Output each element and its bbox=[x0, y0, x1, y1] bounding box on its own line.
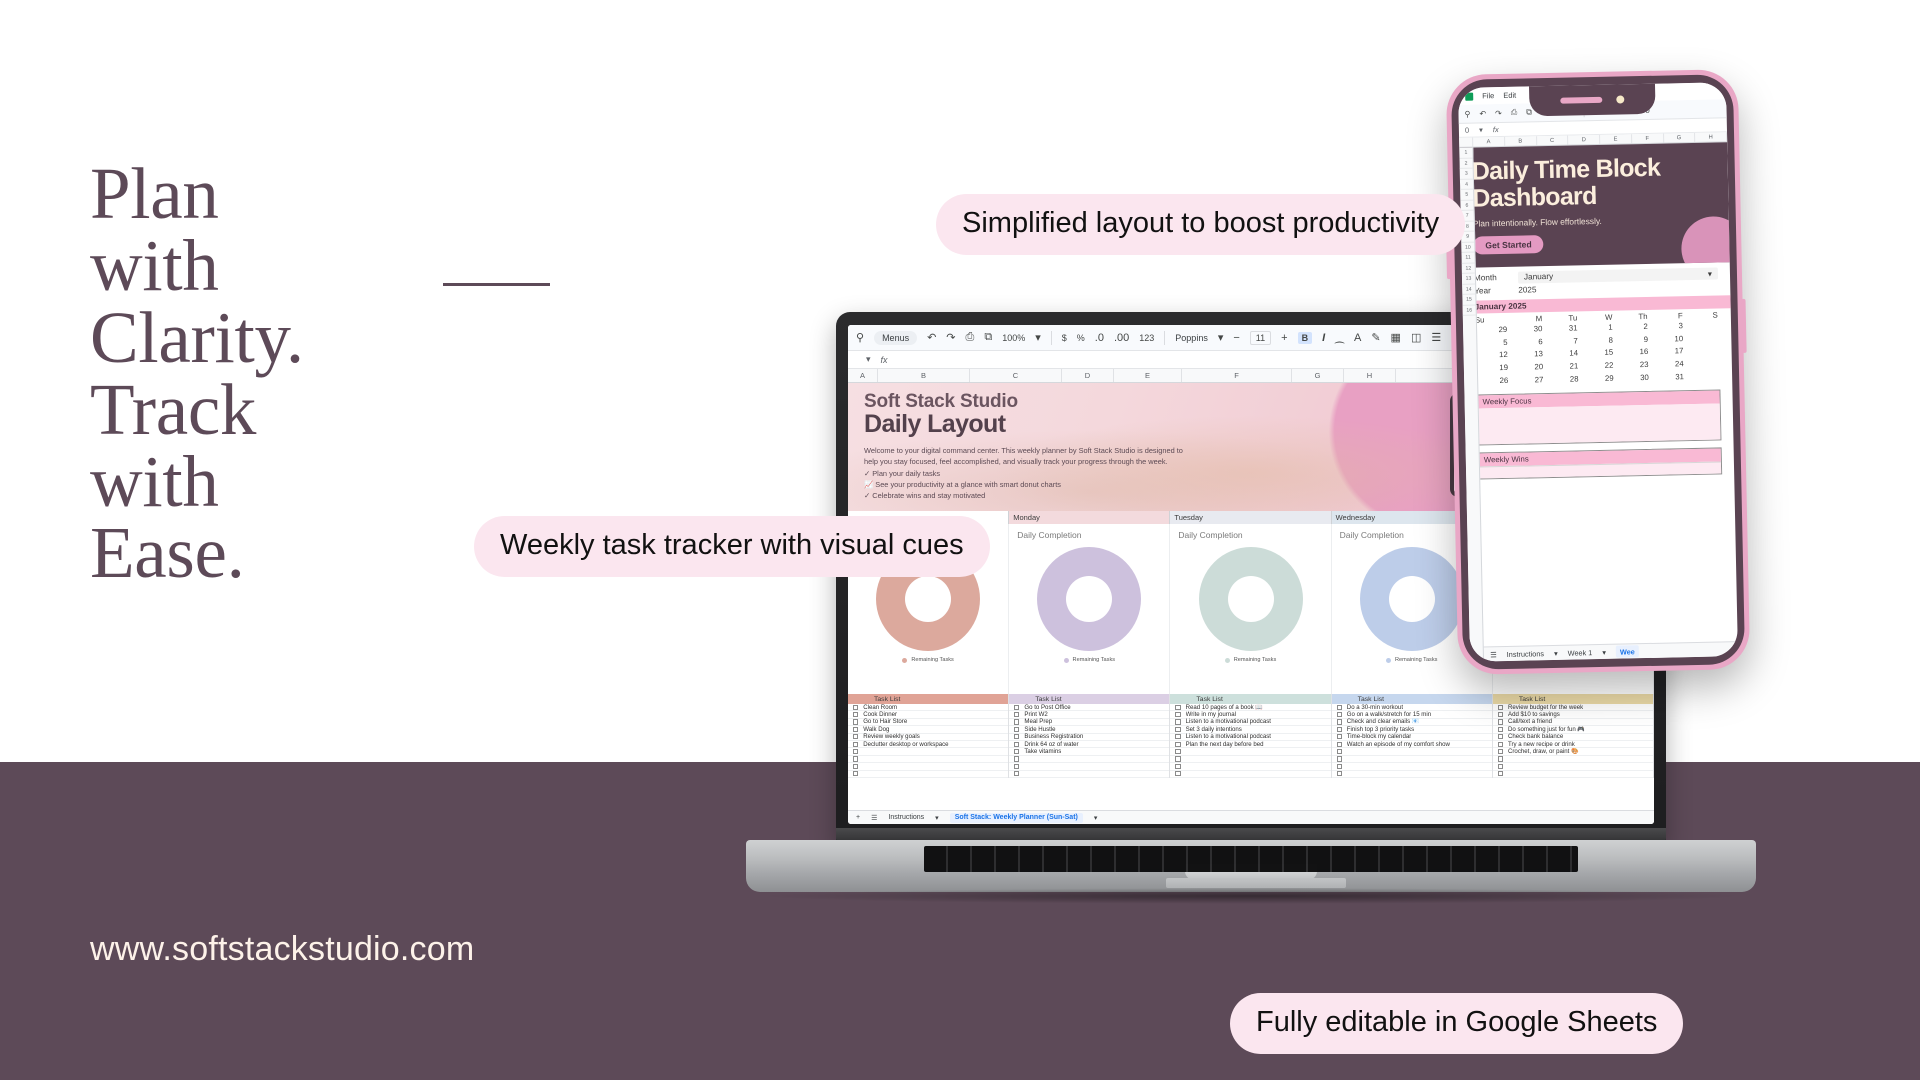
calendar-day-17[interactable]: 17 bbox=[1651, 345, 1686, 358]
task-column-2: Task ListGo to Post OfficePrint W2Meal P… bbox=[1009, 694, 1170, 778]
calendar-day-5[interactable]: 5 bbox=[1475, 336, 1510, 349]
task-checkbox[interactable] bbox=[1175, 756, 1180, 761]
task-row[interactable] bbox=[848, 748, 1008, 755]
task-list-header: Task List bbox=[1493, 694, 1653, 704]
phone-hero-section: Daily Time Block Dashboard Plan intentio… bbox=[1459, 142, 1729, 268]
day-header-monday: Monday bbox=[1009, 511, 1170, 524]
task-checkbox[interactable] bbox=[1498, 734, 1503, 739]
task-label: Go on a walk/stretch for 15 min bbox=[1347, 711, 1431, 718]
phone-hero-subtitle: Plan intentionally. Flow effortlessly. bbox=[1473, 213, 1717, 228]
chevron-down-icon-namebox[interactable]: ▾ bbox=[866, 354, 871, 365]
task-label: Listen to a motivational podcast bbox=[1186, 733, 1271, 740]
phone-corner-cell bbox=[1459, 138, 1473, 147]
chart-title: Daily Completion bbox=[1170, 530, 1330, 540]
task-checkbox[interactable] bbox=[1014, 749, 1019, 754]
chevron-down-icon-phone-namebox[interactable]: ▾ bbox=[1479, 125, 1483, 134]
legend-swatch-icon bbox=[902, 658, 907, 663]
legend-label: Remaining Tasks bbox=[1073, 657, 1116, 663]
task-checkbox[interactable] bbox=[1498, 749, 1503, 754]
chevron-down-icon-ptab1[interactable]: ▾ bbox=[1554, 648, 1558, 657]
calendar-day-10[interactable]: 10 bbox=[1651, 333, 1686, 346]
task-checkbox[interactable] bbox=[1175, 734, 1180, 739]
italic-button[interactable]: I bbox=[1322, 332, 1325, 344]
task-checkbox[interactable] bbox=[853, 742, 858, 747]
task-label: Go to Post Office bbox=[1024, 704, 1070, 711]
headline-line-1: Plan bbox=[90, 158, 510, 230]
paint-format-icon-phone[interactable]: ⧉ bbox=[1526, 107, 1532, 117]
task-checkbox[interactable] bbox=[1498, 727, 1503, 732]
website-url[interactable]: www.softstackstudio.com bbox=[90, 930, 474, 969]
task-checkbox[interactable] bbox=[1498, 705, 1503, 710]
task-label: Do something just for fun 🎮 bbox=[1508, 726, 1585, 733]
task-row[interactable] bbox=[1009, 756, 1169, 763]
fx-icon: fx bbox=[881, 355, 888, 365]
task-checkbox[interactable] bbox=[1175, 749, 1180, 754]
task-label: Call/text a friend bbox=[1508, 718, 1552, 725]
chart-legend: Remaining Tasks bbox=[1009, 657, 1169, 663]
column-header-D[interactable]: D bbox=[1062, 369, 1114, 382]
chevron-down-icon-tab1[interactable]: ▾ bbox=[935, 814, 939, 822]
banner-title: Daily Layout bbox=[864, 410, 1334, 439]
column-header-F[interactable]: F bbox=[1182, 369, 1292, 382]
calendar-day-empty bbox=[1686, 332, 1721, 345]
calendar-day-3[interactable]: 3 bbox=[1651, 320, 1686, 333]
month-value: January bbox=[1524, 271, 1553, 282]
phone-month-form: Month January ▾ Year 2025 bbox=[1462, 262, 1731, 298]
task-list-header: Task List bbox=[1332, 694, 1492, 704]
calendar-day-1[interactable]: 1 bbox=[1580, 322, 1615, 335]
column-header-E[interactable]: E bbox=[1114, 369, 1182, 382]
task-label: Take vitamins bbox=[1024, 748, 1061, 755]
fx-icon-phone: fx bbox=[1493, 125, 1499, 134]
column-header-C[interactable]: C bbox=[970, 369, 1062, 382]
calendar-day-27[interactable]: 27 bbox=[1511, 374, 1546, 387]
calendar-day-29[interactable]: 29 bbox=[1475, 324, 1510, 337]
calendar-day-30[interactable]: 30 bbox=[1510, 323, 1545, 336]
task-row[interactable] bbox=[1332, 763, 1492, 770]
all-sheets-icon[interactable]: ☰ bbox=[871, 814, 877, 822]
calendar-day-31[interactable]: 31 bbox=[1545, 322, 1580, 335]
column-header-G[interactable]: G bbox=[1292, 369, 1344, 382]
task-checkbox[interactable] bbox=[1175, 705, 1180, 710]
task-row[interactable] bbox=[1170, 771, 1330, 778]
task-label: Walk Dog bbox=[863, 726, 889, 733]
headline-line-5: with bbox=[90, 446, 510, 518]
task-label: Plan the next day before bed bbox=[1186, 741, 1264, 748]
task-list-header: Task List bbox=[848, 694, 1008, 704]
callout-google-sheets: Fully editable in Google Sheets bbox=[1230, 993, 1683, 1054]
calendar-weeks: 2930311235678910121314151617192021222324… bbox=[1475, 319, 1722, 387]
task-label: Set 3 daily intentions bbox=[1186, 726, 1242, 733]
phone-row-header-5[interactable]: 5 bbox=[1460, 190, 1473, 201]
task-checkbox[interactable] bbox=[853, 771, 858, 776]
task-label: Finish top 3 priority tasks bbox=[1347, 726, 1414, 733]
zoom-level[interactable]: 100% bbox=[1002, 333, 1025, 343]
camera-icon bbox=[1616, 95, 1624, 103]
task-checkbox[interactable] bbox=[1337, 742, 1342, 747]
year-label: Year bbox=[1474, 286, 1518, 296]
task-row[interactable] bbox=[1009, 763, 1169, 770]
task-checkbox[interactable] bbox=[1498, 771, 1503, 776]
calendar-day-9[interactable]: 9 bbox=[1616, 334, 1651, 347]
calendar-day-26[interactable]: 26 bbox=[1476, 374, 1511, 387]
sheet-tab-instructions[interactable]: Instructions bbox=[888, 814, 924, 821]
task-label: Write in my journal bbox=[1186, 711, 1236, 718]
task-row[interactable] bbox=[1170, 763, 1330, 770]
task-list-header: Task List bbox=[1170, 694, 1330, 704]
task-label: Business Registration bbox=[1024, 733, 1083, 740]
task-checkbox[interactable] bbox=[1014, 712, 1019, 717]
callout-weekly-tracker: Weekly task tracker with visual cues bbox=[474, 516, 990, 577]
horizontal-align-icon[interactable]: ☰ bbox=[1431, 331, 1441, 344]
get-started-button[interactable]: Get Started bbox=[1473, 235, 1544, 254]
task-label: Crochet, draw, or paint 🎨 bbox=[1508, 748, 1579, 755]
calendar-day-15[interactable]: 15 bbox=[1581, 347, 1616, 360]
task-row[interactable]: Declutter desktop or workspace bbox=[848, 741, 1008, 748]
task-checkbox[interactable] bbox=[1014, 705, 1019, 710]
banner-bullet-2: 📈 See your productivity at a glance with… bbox=[864, 480, 1334, 489]
task-checkbox[interactable] bbox=[1175, 719, 1180, 724]
task-checkbox[interactable] bbox=[1337, 712, 1342, 717]
legend-swatch-icon bbox=[1225, 658, 1230, 663]
task-checkbox[interactable] bbox=[1337, 771, 1342, 776]
sheet-tab-bar[interactable]: + ☰ Instructions ▾ Soft Stack: Weekly Pl… bbox=[848, 810, 1654, 824]
phone-notch bbox=[1529, 84, 1656, 117]
headline-line-3: Clarity. bbox=[90, 302, 510, 374]
task-column-1: Task ListClean RoomCook DinnerGo to Hair… bbox=[848, 694, 1009, 778]
font-family-select[interactable]: Poppins bbox=[1175, 333, 1208, 343]
number-format-button[interactable]: 123 bbox=[1139, 333, 1154, 343]
print-icon[interactable]: ⎙ bbox=[966, 331, 975, 344]
redo-icon[interactable]: ↷ bbox=[946, 331, 955, 344]
task-checkbox[interactable] bbox=[853, 719, 858, 724]
phone-row-header-14[interactable]: 14 bbox=[1462, 284, 1475, 295]
phone-tab-week1[interactable]: Week 1 bbox=[1568, 648, 1593, 658]
task-checkbox[interactable] bbox=[1014, 764, 1019, 769]
menus-button[interactable]: Menus bbox=[874, 331, 917, 345]
task-row[interactable]: Plan the next day before bed bbox=[1170, 741, 1330, 748]
task-checkbox[interactable] bbox=[1175, 764, 1180, 769]
chart-cell-monday: Daily CompletionRemaining Tasks bbox=[1009, 524, 1170, 694]
task-row[interactable] bbox=[848, 763, 1008, 770]
phone-column-header-B[interactable]: B bbox=[1505, 136, 1537, 146]
task-label: Watch an episode of my comfort show bbox=[1347, 741, 1450, 748]
decrease-font-size-icon[interactable]: − bbox=[1233, 332, 1239, 344]
chevron-down-icon[interactable]: ▾ bbox=[1035, 331, 1041, 344]
calendar-day-14[interactable]: 14 bbox=[1546, 348, 1581, 361]
calendar-day-12[interactable]: 12 bbox=[1476, 349, 1511, 362]
text-color-icon[interactable]: A bbox=[1354, 332, 1361, 344]
task-row[interactable] bbox=[1332, 756, 1492, 763]
legend-label: Remaining Tasks bbox=[1395, 657, 1438, 663]
task-checkbox[interactable] bbox=[853, 727, 858, 732]
all-sheets-icon-phone[interactable]: ☰ bbox=[1490, 650, 1497, 659]
calendar-day-empty bbox=[1687, 370, 1722, 383]
page-title: Plan with Clarity. Track with Ease. bbox=[90, 158, 510, 589]
chevron-down-icon-ptab2[interactable]: ▾ bbox=[1602, 647, 1606, 656]
phone-column-header-D[interactable]: D bbox=[1568, 135, 1600, 145]
phone-hero-title: Daily Time Block Dashboard bbox=[1472, 153, 1717, 211]
legend-label: Remaining Tasks bbox=[911, 657, 954, 663]
column-header-B[interactable]: B bbox=[878, 369, 970, 382]
task-row[interactable] bbox=[848, 771, 1008, 778]
chart-legend: Remaining Tasks bbox=[848, 657, 1008, 663]
strikethrough-icon[interactable]: ⁔ bbox=[1335, 331, 1344, 344]
headline-line-6: Ease. bbox=[90, 517, 510, 589]
menu-file[interactable]: File bbox=[1482, 91, 1494, 100]
phone-column-header-F[interactable]: F bbox=[1632, 134, 1664, 144]
add-sheet-icon[interactable]: + bbox=[856, 814, 860, 821]
task-checkbox[interactable] bbox=[1014, 771, 1019, 776]
calendar-day-30[interactable]: 30 bbox=[1617, 371, 1652, 384]
task-checkbox[interactable] bbox=[1498, 719, 1503, 724]
task-label: Check bank balance bbox=[1508, 733, 1563, 740]
month-label: Month bbox=[1474, 273, 1518, 283]
headline-line-4: Track bbox=[90, 374, 510, 446]
task-row[interactable]: Crochet, draw, or paint 🎨 bbox=[1493, 748, 1653, 755]
task-checkbox[interactable] bbox=[1337, 764, 1342, 769]
calendar-day-24[interactable]: 24 bbox=[1651, 358, 1686, 371]
percent-icon[interactable]: % bbox=[1077, 333, 1085, 343]
legend-swatch-icon bbox=[1386, 658, 1391, 663]
task-checkbox[interactable] bbox=[1175, 712, 1180, 717]
headline-line-2: with bbox=[90, 230, 510, 302]
chart-cell-tuesday: Daily CompletionRemaining Tasks bbox=[1170, 524, 1331, 694]
task-checkbox[interactable] bbox=[1014, 734, 1019, 739]
phone-row-header-3[interactable]: 3 bbox=[1460, 169, 1473, 180]
task-label: Go to Hair Store bbox=[863, 718, 907, 725]
phone-tab-week2[interactable]: Wee bbox=[1616, 645, 1639, 657]
task-row[interactable]: Take vitamins bbox=[1009, 748, 1169, 755]
poster-canvas: Plan with Clarity. Track with Ease. www.… bbox=[0, 0, 1920, 1080]
calendar-day-6[interactable]: 6 bbox=[1510, 336, 1545, 349]
calendar-day-16[interactable]: 16 bbox=[1616, 346, 1651, 359]
task-column-3: Task ListRead 10 pages of a book 📖Write … bbox=[1170, 694, 1331, 778]
calendar-day-23[interactable]: 23 bbox=[1616, 359, 1651, 372]
laptop-trackpad bbox=[1166, 878, 1346, 888]
increase-decimal-icon[interactable]: .00 bbox=[1114, 332, 1129, 344]
chart-legend: Remaining Tasks bbox=[1170, 657, 1330, 663]
headline-divider bbox=[443, 283, 550, 286]
task-list-header: Task List bbox=[1009, 694, 1169, 704]
borders-icon[interactable]: ▦ bbox=[1391, 331, 1401, 344]
task-checkbox[interactable] bbox=[1337, 727, 1342, 732]
task-label: Listen to a motivational podcast bbox=[1186, 718, 1271, 725]
calendar-day-8[interactable]: 8 bbox=[1581, 334, 1616, 347]
phone-column-header-A[interactable]: A bbox=[1473, 137, 1505, 147]
phone-row-header-12[interactable]: 12 bbox=[1462, 263, 1475, 274]
task-column-4: Task ListDo a 30-min workoutGo on a walk… bbox=[1332, 694, 1493, 778]
bold-button[interactable]: B bbox=[1298, 332, 1313, 344]
calendar-day-2[interactable]: 2 bbox=[1616, 321, 1651, 334]
paint-format-icon[interactable]: ⧉ bbox=[984, 331, 992, 344]
phone-screen: File Edit View Insert Format Data Tools … bbox=[1458, 82, 1738, 661]
merge-cells-icon[interactable]: ◫ bbox=[1411, 331, 1421, 344]
calendar-day-empty bbox=[1686, 319, 1721, 332]
phone-row-header-15[interactable]: 15 bbox=[1462, 295, 1475, 306]
phone-row-header-10[interactable]: 10 bbox=[1461, 242, 1474, 253]
calendar-day-22[interactable]: 22 bbox=[1581, 359, 1616, 372]
phone-row-header-11[interactable]: 11 bbox=[1461, 253, 1474, 264]
task-label: Clean Room bbox=[863, 704, 897, 711]
task-label: Read 10 pages of a book 📖 bbox=[1186, 704, 1263, 711]
phone-column-header-H[interactable]: H bbox=[1695, 132, 1727, 142]
task-label: Drink 64 oz of water bbox=[1024, 741, 1078, 748]
chevron-down-icon-tab2[interactable]: ▾ bbox=[1094, 814, 1098, 822]
undo-icon-phone[interactable]: ↶ bbox=[1479, 109, 1486, 118]
task-checkbox[interactable] bbox=[853, 705, 858, 710]
task-row[interactable] bbox=[1170, 756, 1330, 763]
task-row[interactable] bbox=[1009, 771, 1169, 778]
task-checkbox[interactable] bbox=[1337, 756, 1342, 761]
task-checkbox[interactable] bbox=[1337, 749, 1342, 754]
task-checkbox[interactable] bbox=[1498, 712, 1503, 717]
phone-mockup: File Edit View Insert Format Data Tools … bbox=[1446, 69, 1751, 675]
phone-column-header-C[interactable]: C bbox=[1537, 136, 1569, 146]
task-label: Time-block my calendar bbox=[1347, 733, 1411, 740]
task-label: Try a new recipe or drink bbox=[1508, 741, 1575, 748]
task-row[interactable] bbox=[1493, 763, 1653, 770]
callout-simplified-layout: Simplified layout to boost productivity bbox=[936, 194, 1465, 255]
undo-icon[interactable]: ↶ bbox=[927, 331, 936, 344]
legend-swatch-icon bbox=[1064, 658, 1069, 663]
phone-row-header-6[interactable]: 6 bbox=[1460, 200, 1473, 211]
task-checkbox[interactable] bbox=[1498, 742, 1503, 747]
print-icon-phone[interactable]: ⎙ bbox=[1511, 108, 1518, 118]
task-checkbox[interactable] bbox=[1175, 727, 1180, 732]
task-column-5: Task ListReview budget for the weekAdd $… bbox=[1493, 694, 1654, 778]
sheet-tab-weekly-planner[interactable]: Soft Stack: Weekly Planner (Sun-Sat) bbox=[950, 813, 1083, 823]
currency-icon[interactable]: $ bbox=[1062, 333, 1067, 343]
task-checkbox[interactable] bbox=[1014, 727, 1019, 732]
fill-color-icon[interactable]: ✎ bbox=[1371, 331, 1380, 344]
task-row[interactable] bbox=[1332, 771, 1492, 778]
phone-row-header-4[interactable]: 4 bbox=[1460, 179, 1473, 190]
speaker-icon bbox=[1560, 97, 1602, 104]
donut-chart-wednesday bbox=[1360, 547, 1464, 651]
phone-power-button[interactable] bbox=[1742, 299, 1747, 353]
phone-column-header-E[interactable]: E bbox=[1600, 134, 1632, 144]
task-label: Do a 30-min workout bbox=[1347, 704, 1403, 711]
laptop-keyboard bbox=[924, 846, 1578, 872]
task-checkbox[interactable] bbox=[853, 734, 858, 739]
calendar-day-31[interactable]: 31 bbox=[1652, 371, 1687, 384]
weekly-focus-box[interactable]: Weekly Focus bbox=[1476, 390, 1721, 446]
task-row[interactable] bbox=[1170, 748, 1330, 755]
task-checkbox[interactable] bbox=[1498, 756, 1503, 761]
task-label: Side Hustle bbox=[1024, 726, 1055, 733]
task-label: Add $10 to savings bbox=[1508, 711, 1560, 718]
redo-icon-phone[interactable]: ↷ bbox=[1495, 108, 1502, 117]
chevron-down-icon-font[interactable]: ▾ bbox=[1218, 331, 1224, 344]
task-checkbox[interactable] bbox=[1337, 719, 1342, 724]
menu-edit[interactable]: Edit bbox=[1503, 91, 1516, 100]
calendar-day-19[interactable]: 19 bbox=[1476, 362, 1511, 375]
task-checkbox[interactable] bbox=[853, 764, 858, 769]
font-size-input[interactable]: 11 bbox=[1250, 331, 1271, 345]
phone-row-header-1[interactable]: 1 bbox=[1459, 148, 1472, 159]
calendar-day-13[interactable]: 13 bbox=[1511, 348, 1546, 361]
task-row[interactable] bbox=[848, 756, 1008, 763]
phone-row-header-16[interactable]: 16 bbox=[1463, 305, 1476, 316]
task-label: Meal Prep bbox=[1024, 718, 1052, 725]
laptop-shadow bbox=[756, 888, 1746, 904]
calendar-day-7[interactable]: 7 bbox=[1546, 335, 1581, 348]
task-label: Declutter desktop or workspace bbox=[863, 741, 948, 748]
task-row[interactable]: Watch an episode of my comfort show bbox=[1332, 741, 1492, 748]
banner-paragraph: Welcome to your digital command center. … bbox=[864, 445, 1194, 467]
decrease-decimal-icon[interactable]: .0 bbox=[1095, 332, 1104, 344]
calendar-day-empty bbox=[1687, 357, 1722, 370]
phone-tab-instructions[interactable]: Instructions bbox=[1507, 649, 1544, 659]
phone-row-header-13[interactable]: 13 bbox=[1462, 274, 1475, 285]
task-label: Cook Dinner bbox=[863, 711, 897, 718]
calendar-day-empty bbox=[1686, 345, 1721, 358]
phone-calendar: SuMTuWThFS 29303112356789101213141516171… bbox=[1463, 308, 1732, 388]
legend-label: Remaining Tasks bbox=[1234, 657, 1277, 663]
weekly-focus-input[interactable] bbox=[1478, 404, 1721, 445]
column-header-A[interactable]: A bbox=[848, 369, 878, 382]
banner-bullet-3: ✓ Celebrate wins and stay motivated bbox=[864, 491, 1334, 500]
calendar-day-21[interactable]: 21 bbox=[1546, 360, 1581, 373]
phone-column-header-G[interactable]: G bbox=[1664, 133, 1696, 143]
task-checkbox[interactable] bbox=[1175, 742, 1180, 747]
calendar-day-29[interactable]: 29 bbox=[1581, 372, 1616, 385]
banner-bullet-1: ✓ Plan your daily tasks bbox=[864, 469, 1334, 478]
task-checkbox[interactable] bbox=[1014, 719, 1019, 724]
task-checkbox[interactable] bbox=[1337, 705, 1342, 710]
donut-chart-monday bbox=[1037, 547, 1141, 651]
task-checkbox[interactable] bbox=[853, 756, 858, 761]
task-checkbox[interactable] bbox=[1014, 742, 1019, 747]
search-icon-phone[interactable]: ⚲ bbox=[1464, 109, 1470, 118]
weekly-wins-box[interactable]: Weekly Wins bbox=[1478, 448, 1723, 480]
task-label: Print W2 bbox=[1024, 711, 1047, 718]
toolbar-divider-2 bbox=[1164, 331, 1165, 345]
hero-decorative-circle bbox=[1681, 216, 1730, 268]
column-header-H[interactable]: H bbox=[1344, 369, 1396, 382]
calendar-day-20[interactable]: 20 bbox=[1511, 361, 1546, 374]
sheets-logo-icon bbox=[1465, 92, 1473, 100]
day-header-tuesday: Tuesday bbox=[1170, 511, 1331, 524]
task-label: Review weekly goals bbox=[863, 733, 920, 740]
task-checkbox[interactable] bbox=[1014, 756, 1019, 761]
task-row[interactable] bbox=[1332, 748, 1492, 755]
task-checkbox[interactable] bbox=[853, 749, 858, 754]
task-row[interactable] bbox=[1493, 771, 1653, 778]
task-checkbox[interactable] bbox=[1337, 734, 1342, 739]
phone-row-header-2[interactable]: 2 bbox=[1459, 158, 1472, 169]
task-label: Review budget for the week bbox=[1508, 704, 1583, 711]
task-checkbox[interactable] bbox=[1175, 771, 1180, 776]
banner-text: Soft Stack Studio Daily Layout Welcome t… bbox=[864, 391, 1334, 500]
increase-font-size-icon[interactable]: + bbox=[1281, 332, 1287, 344]
chart-title: Daily Completion bbox=[1009, 530, 1169, 540]
donut-chart-tuesday bbox=[1199, 547, 1303, 651]
task-row[interactable] bbox=[1493, 756, 1653, 763]
search-icon[interactable]: ⚲ bbox=[856, 331, 864, 344]
task-list-grid: Task ListClean RoomCook DinnerGo to Hair… bbox=[848, 694, 1654, 778]
chevron-down-icon-month[interactable]: ▾ bbox=[1708, 268, 1712, 278]
calendar-day-28[interactable]: 28 bbox=[1546, 373, 1581, 386]
task-label: Check and clear emails 📧 bbox=[1347, 718, 1420, 725]
task-checkbox[interactable] bbox=[1498, 764, 1503, 769]
task-checkbox[interactable] bbox=[853, 712, 858, 717]
toolbar-divider bbox=[1051, 331, 1052, 345]
phone-name-box[interactable]: 0 bbox=[1465, 126, 1469, 135]
year-value[interactable]: 2025 bbox=[1518, 285, 1536, 294]
